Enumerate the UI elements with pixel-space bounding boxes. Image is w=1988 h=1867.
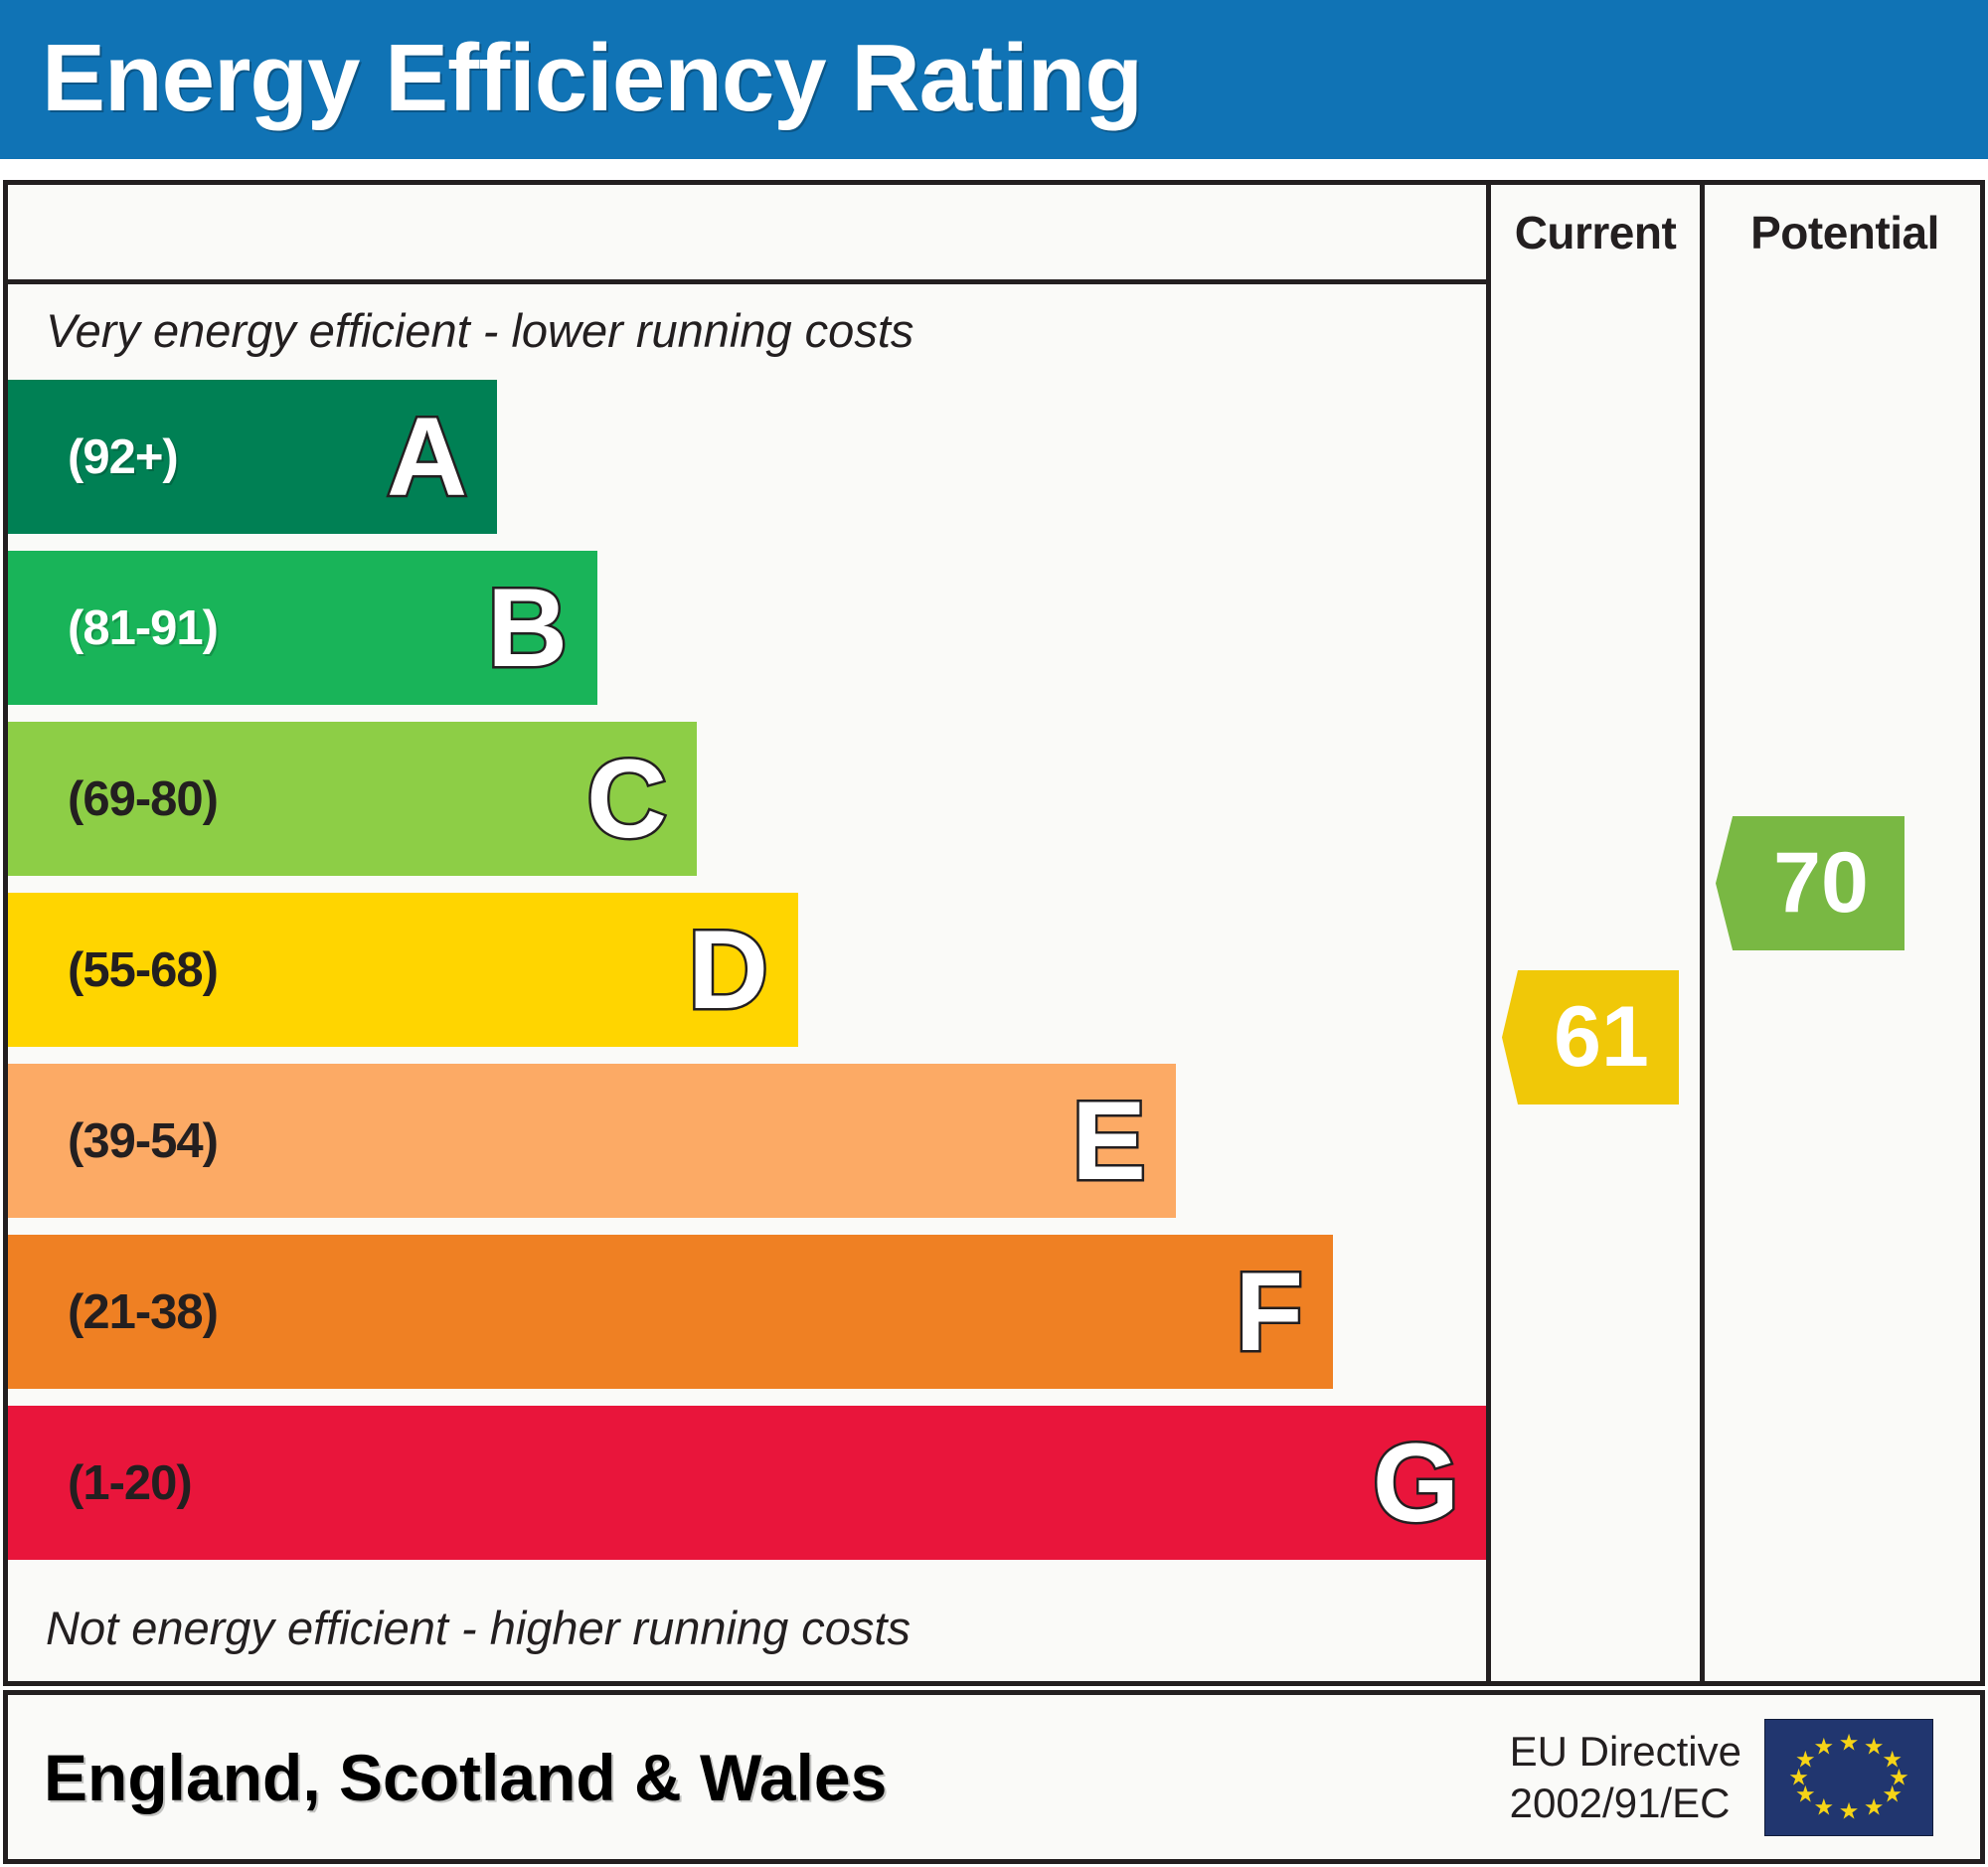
page-title: Energy Efficiency Rating (42, 20, 1142, 137)
rating-marker-current: 61 (1502, 970, 1679, 1104)
band-letter-e: E (1072, 1086, 1146, 1197)
footer-bar: England, Scotland & Wales EU Directive 2… (3, 1690, 1985, 1864)
eu-flag-icon: ★★★★★★★★★★★★ (1764, 1719, 1933, 1836)
band-range-b: (81-91) (68, 600, 218, 656)
band-a: (92+)A (8, 380, 497, 534)
eu-flag-star: ★ (1839, 1800, 1860, 1823)
column-header-current: Current (1491, 185, 1700, 279)
title-banner: Energy Efficiency Rating (0, 0, 1988, 159)
rating-graph: Very energy efficient - lower running co… (8, 284, 1486, 1681)
band-e: (39-54)E (8, 1064, 1176, 1218)
band-g: (1-20)G (8, 1406, 1486, 1560)
band-letter-g: G (1373, 1428, 1459, 1539)
band-range-a: (92+) (68, 429, 178, 485)
band-f: (21-38)F (8, 1235, 1333, 1389)
rating-marker-potential: 70 (1716, 816, 1905, 950)
footer-directive-label: EU Directive 2002/91/EC (1510, 1726, 1741, 1829)
column-divider-potential (1700, 185, 1705, 1681)
column-divider-current (1486, 185, 1491, 1681)
directive-line-1: EU Directive (1510, 1726, 1741, 1778)
eu-flag-star: ★ (1813, 1736, 1834, 1759)
column-header-potential: Potential (1705, 185, 1985, 279)
eu-flag-star: ★ (1839, 1731, 1860, 1754)
eu-flag-star: ★ (1864, 1795, 1885, 1818)
band-range-g: (1-20) (68, 1455, 192, 1511)
directive-line-2: 2002/91/EC (1510, 1778, 1741, 1829)
band-letter-a: A (387, 402, 467, 513)
caption-not-efficient: Not energy efficient - higher running co… (8, 1582, 1400, 1673)
band-letter-f: F (1236, 1257, 1303, 1368)
band-range-f: (21-38) (68, 1284, 218, 1340)
band-letter-b: B (487, 573, 568, 684)
band-letter-c: C (586, 744, 667, 855)
caption-very-efficient: Very energy efficient - lower running co… (8, 284, 1400, 376)
eu-flag-star: ★ (1882, 1782, 1903, 1805)
band-b: (81-91)B (8, 551, 597, 705)
rating-table: Current Potential Very energy efficient … (3, 180, 1985, 1686)
energy-efficiency-certificate: Energy Efficiency Rating Current Potenti… (0, 0, 1988, 1867)
band-range-e: (39-54) (68, 1113, 218, 1169)
band-range-c: (69-80) (68, 771, 218, 827)
band-letter-d: D (688, 915, 768, 1026)
band-c: (69-80)C (8, 722, 697, 876)
band-list: (92+)A(81-91)B(69-80)C(55-68)D(39-54)E(2… (8, 380, 1486, 1583)
band-range-d: (55-68) (68, 942, 218, 998)
eu-flag-star: ★ (1813, 1795, 1834, 1818)
footer-region-label: England, Scotland & Wales (44, 1740, 887, 1815)
band-d: (55-68)D (8, 893, 798, 1047)
